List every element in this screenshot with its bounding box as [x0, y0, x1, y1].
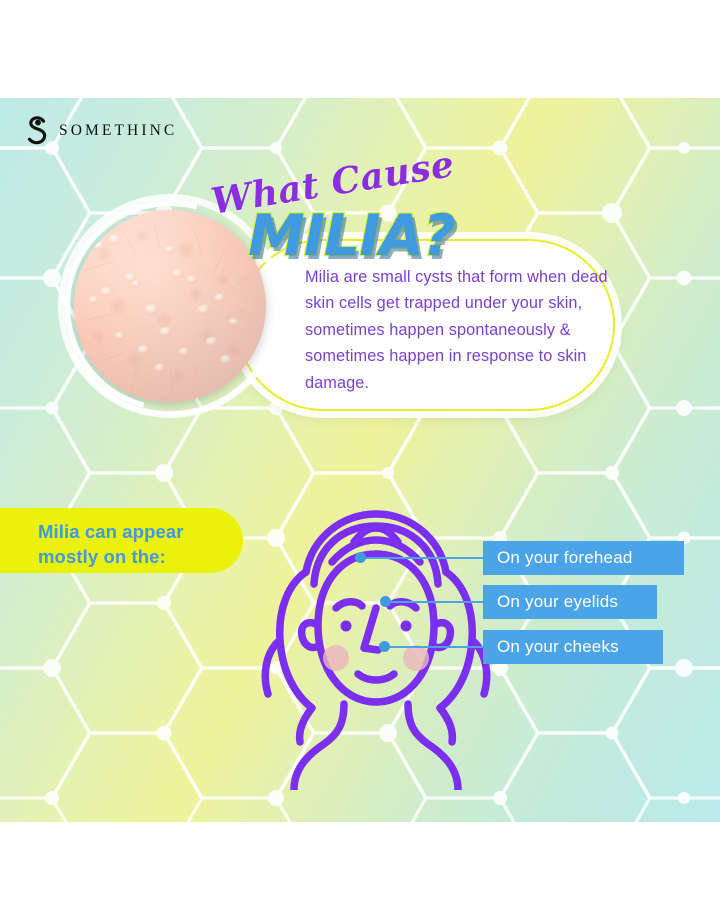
- locations-badge-text: Milia can appear mostly on the:: [38, 519, 238, 569]
- callout-cheeks-label: On your cheeks: [497, 637, 619, 657]
- locations-badge-line-1: Milia can appear: [38, 519, 238, 544]
- callout-lead-cheeks: [384, 646, 484, 648]
- locations-badge-line-2: mostly on the:: [38, 544, 238, 569]
- headline-main: MILIA?: [248, 203, 455, 269]
- left-eye: [341, 621, 352, 632]
- brand-logo: SOMETHINC: [24, 116, 177, 146]
- callout-forehead-label: On your forehead: [497, 548, 633, 568]
- callout-dot-forehead: [355, 552, 366, 563]
- callout-forehead[interactable]: On your forehead: [483, 541, 684, 575]
- callout-cheeks[interactable]: On your cheeks: [483, 630, 663, 664]
- callout-eyelids[interactable]: On your eyelids: [483, 585, 657, 619]
- left-blush: [323, 645, 349, 671]
- infographic-canvas: SOMETHINC: [0, 0, 720, 922]
- brand-name: SOMETHINC: [59, 122, 177, 140]
- callout-dot-eyelids: [380, 596, 391, 607]
- woman-face-illustration-icon: [258, 498, 494, 790]
- callout-lead-eyelids: [385, 601, 484, 603]
- info-card-body: Milia are small cysts that form when dea…: [305, 264, 635, 396]
- right-blush: [403, 645, 429, 671]
- callout-dot-cheeks: [379, 641, 390, 652]
- callout-eyelids-label: On your eyelids: [497, 592, 618, 612]
- callout-lead-forehead: [360, 557, 484, 559]
- right-eye: [401, 621, 412, 632]
- somethinc-s-monogram-icon: [24, 116, 50, 146]
